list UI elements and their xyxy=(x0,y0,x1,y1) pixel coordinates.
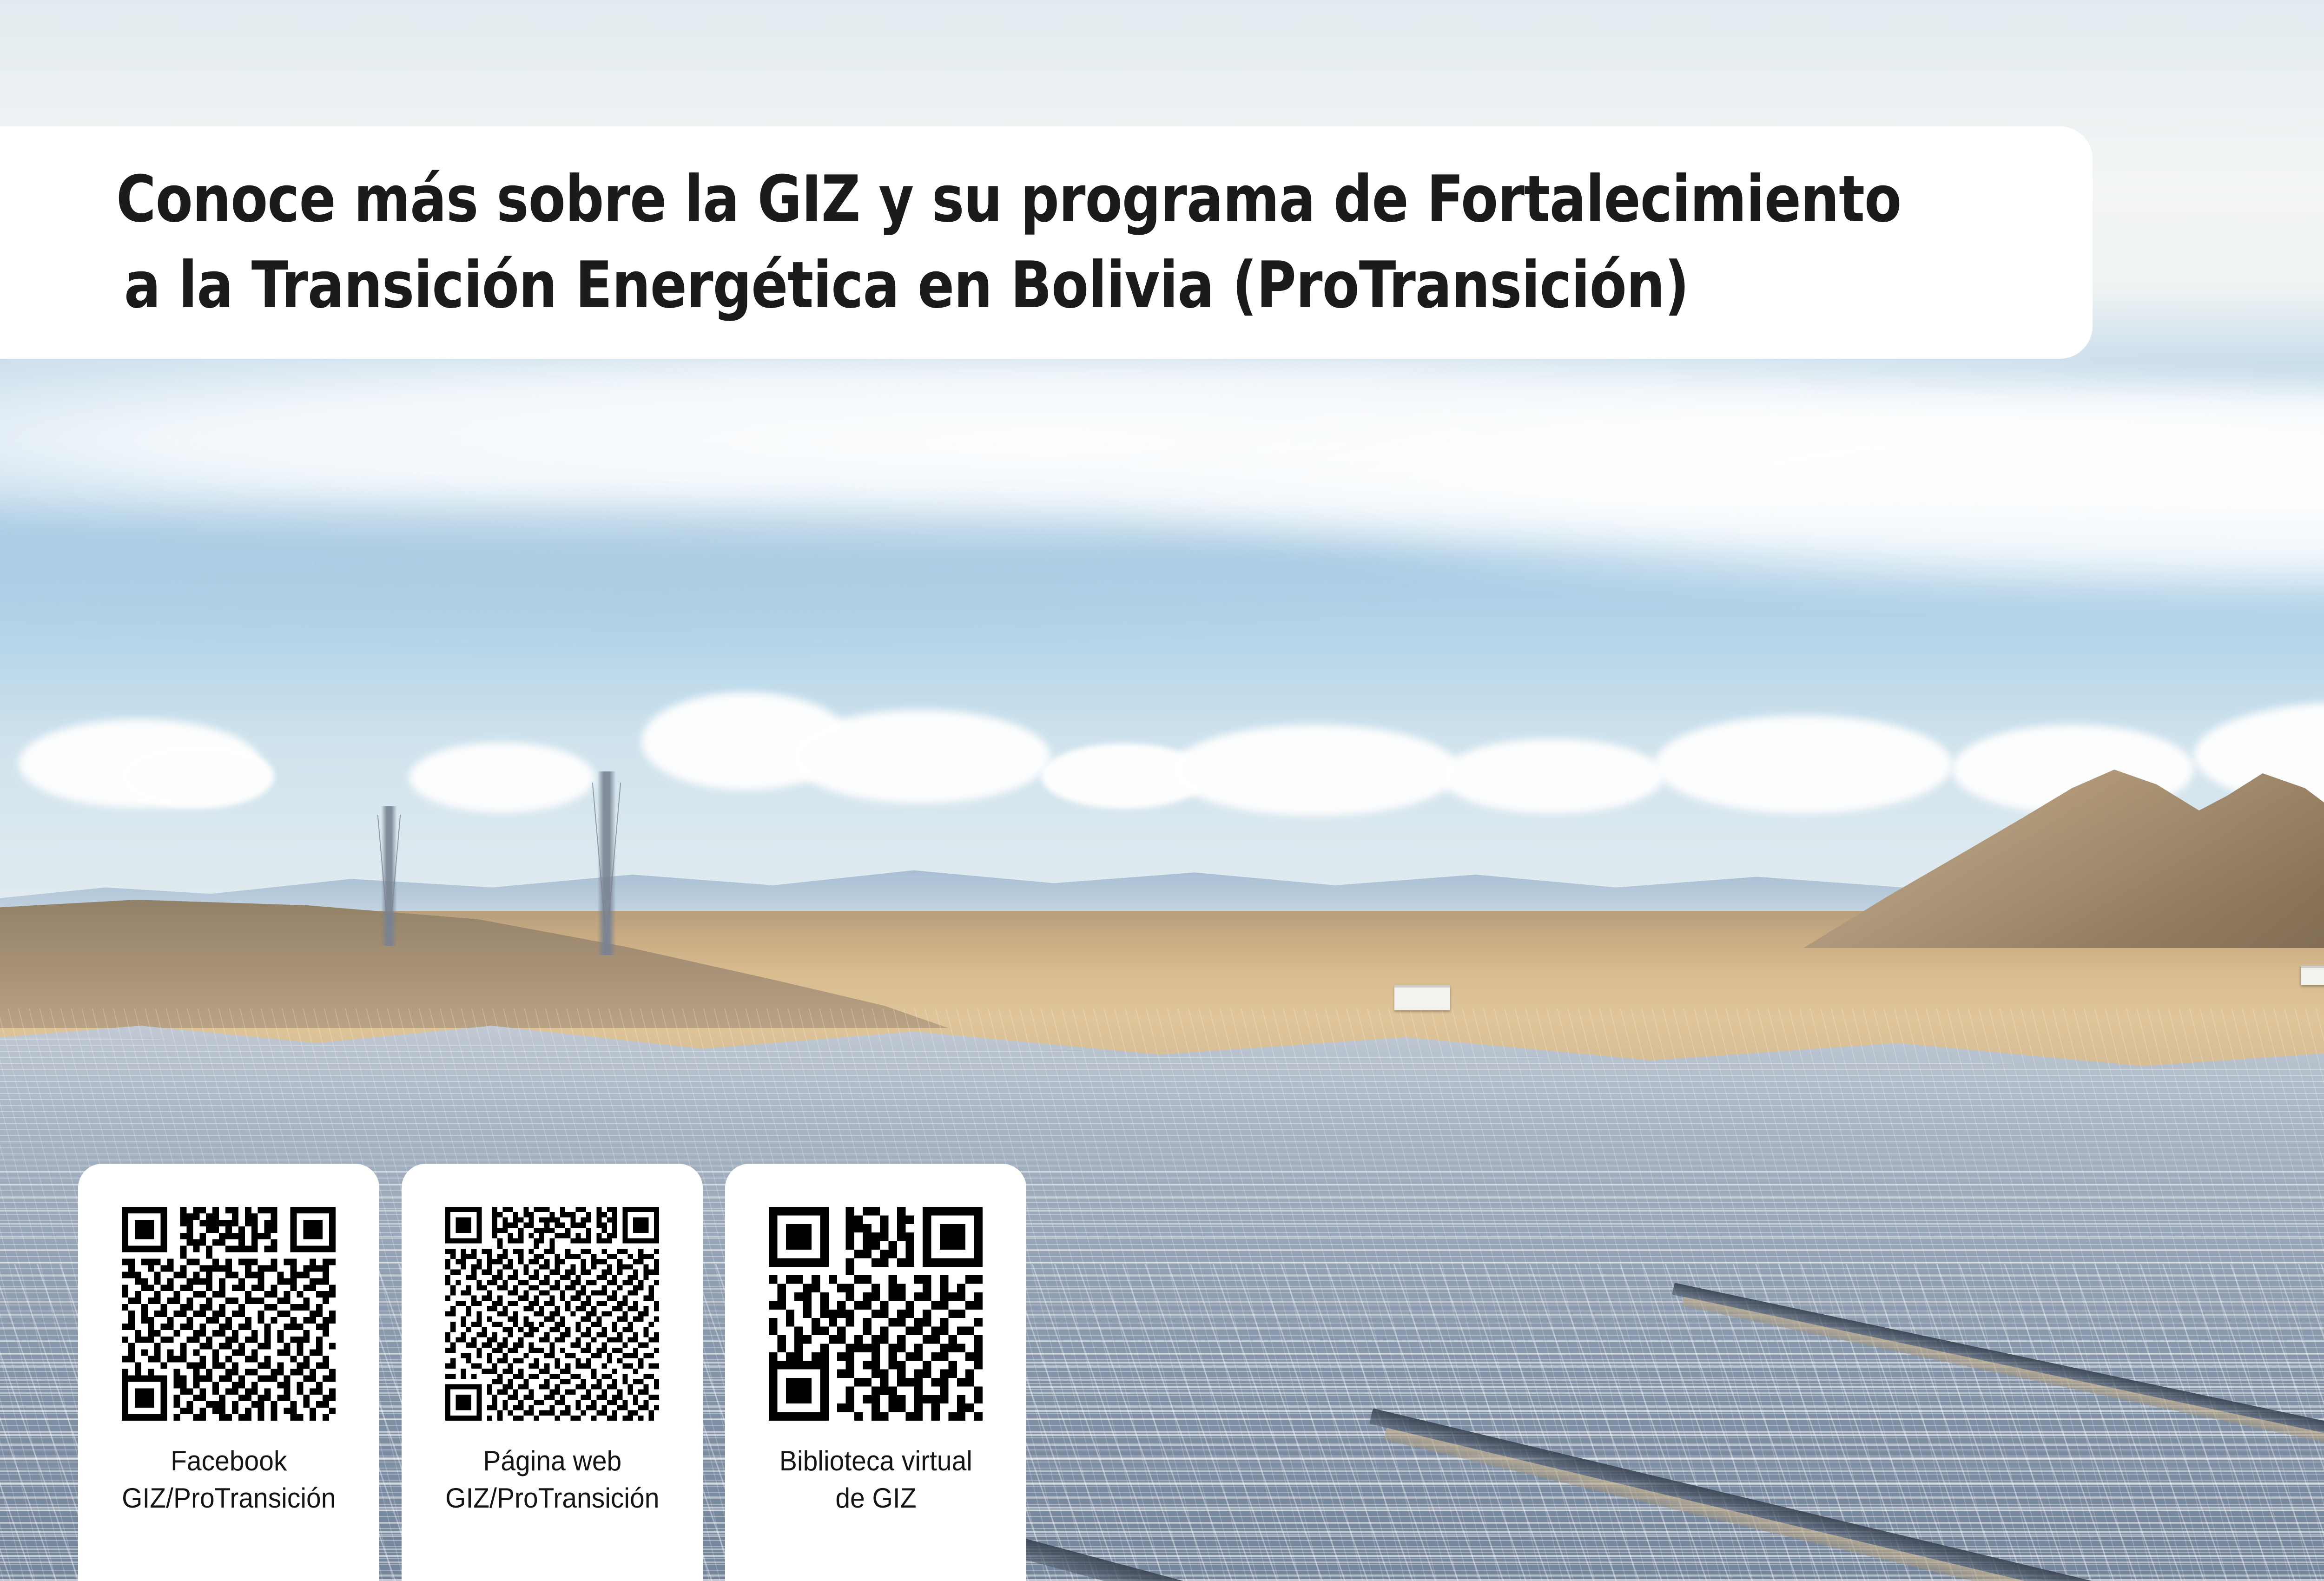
qr-label-line-1: Facebook xyxy=(122,1443,336,1480)
qr-card-label: Facebook GIZ/ProTransición xyxy=(122,1443,336,1517)
qr-label-line-1: Biblioteca virtual xyxy=(779,1443,972,1480)
page-title-line-1: Conoce más sobre la GIZ y su programa de… xyxy=(116,157,1974,243)
qr-code-icon[interactable] xyxy=(445,1205,659,1423)
cloud-icon xyxy=(1441,739,1664,813)
qr-label-line-2: GIZ/ProTransición xyxy=(122,1480,336,1517)
service-building xyxy=(1394,985,1450,1010)
cloud-band-icon xyxy=(0,493,1813,632)
page-title-line-2: a la Transición Energética en Bolivia (P… xyxy=(116,243,1974,329)
qr-label-line-1: Página web xyxy=(445,1443,659,1480)
qr-card-library[interactable]: Biblioteca virtual de GIZ xyxy=(725,1164,1026,1581)
title-banner: Conoce más sobre la GIZ y su programa de… xyxy=(0,126,2093,359)
transmission-tower-icon xyxy=(597,771,616,955)
qr-card-website[interactable]: Página web GIZ/ProTransición xyxy=(402,1164,703,1581)
cloud-icon xyxy=(409,743,595,812)
cloud-icon xyxy=(121,744,274,809)
service-building xyxy=(2301,966,2324,985)
qr-code-icon[interactable] xyxy=(769,1205,983,1423)
cloud-icon xyxy=(1171,725,1459,816)
qr-card-label: Página web GIZ/ProTransición xyxy=(445,1443,659,1517)
transmission-tower-icon xyxy=(381,806,397,946)
qr-label-line-2: GIZ/ProTransición xyxy=(445,1480,659,1517)
qr-code-icon[interactable] xyxy=(122,1205,336,1423)
cloud-icon xyxy=(790,710,1050,803)
qr-card-row: Facebook GIZ/ProTransición xyxy=(78,1164,1026,1581)
cloud-icon xyxy=(1655,716,1952,813)
qr-label-line-2: de GIZ xyxy=(779,1480,972,1517)
qr-card-facebook[interactable]: Facebook GIZ/ProTransición xyxy=(78,1164,379,1581)
qr-card-label: Biblioteca virtual de GIZ xyxy=(779,1443,972,1517)
